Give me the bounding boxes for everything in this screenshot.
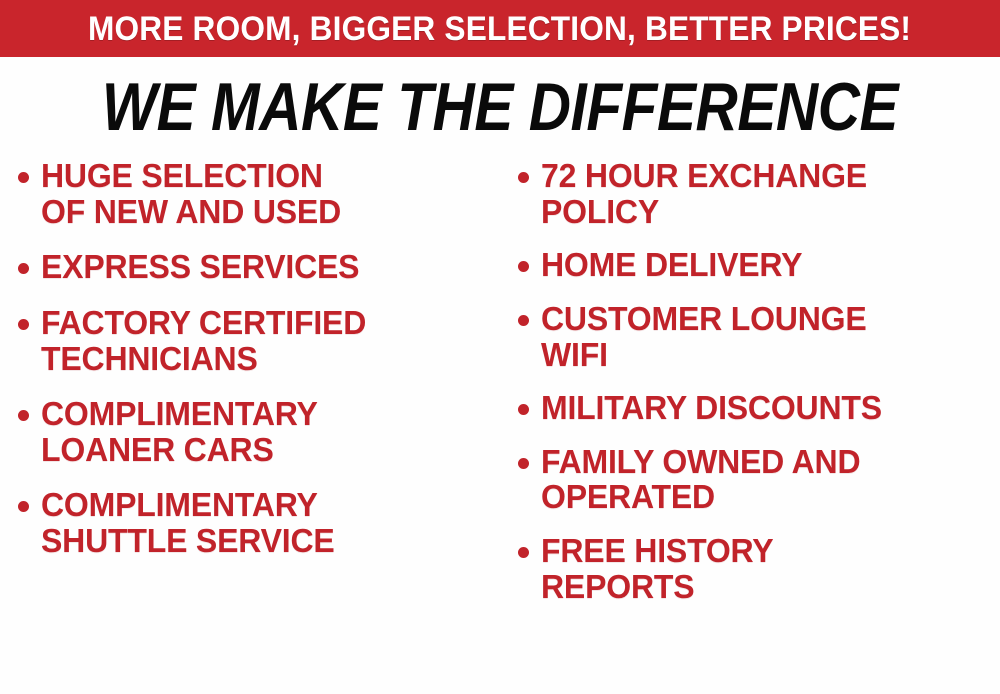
banner-headline-text: MORE ROOM, BIGGER SELECTION, BETTER PRIC… [88, 12, 911, 46]
bullet-dot-icon [518, 458, 529, 469]
bullet-dot-icon [18, 410, 29, 421]
feature-columns: HUGE SELECTION OF NEW AND USED EXPRESS S… [0, 158, 1000, 694]
top-banner: MORE ROOM, BIGGER SELECTION, BETTER PRIC… [0, 0, 1000, 57]
bullet-dot-icon [518, 547, 529, 558]
bullet-dot-icon [18, 263, 29, 274]
feature-item: MILITARY DISCOUNTS [518, 390, 1000, 426]
promotional-poster: MORE ROOM, BIGGER SELECTION, BETTER PRIC… [0, 0, 1000, 694]
bullet-dot-icon [518, 404, 529, 415]
feature-label: FACTORY CERTIFIED TECHNICIANS [41, 305, 366, 376]
feature-label: FAMILY OWNED AND OPERATED [541, 444, 860, 515]
bullet-dot-icon [18, 501, 29, 512]
feature-label: 72 HOUR EXCHANGE POLICY [541, 158, 867, 229]
feature-item: 72 HOUR EXCHANGE POLICY [518, 158, 1000, 229]
headline-container: WE MAKE THE DIFFERENCE [0, 66, 1000, 148]
feature-item: FREE HISTORY REPORTS [518, 533, 1000, 604]
bullet-dot-icon [518, 261, 529, 272]
feature-label: HOME DELIVERY [541, 247, 802, 283]
feature-item: FAMILY OWNED AND OPERATED [518, 444, 1000, 515]
feature-item: HOME DELIVERY [518, 247, 1000, 283]
feature-label: MILITARY DISCOUNTS [541, 390, 882, 426]
feature-label: EXPRESS SERVICES [41, 249, 359, 285]
feature-label: FREE HISTORY REPORTS [541, 533, 773, 604]
bullet-dot-icon [18, 319, 29, 330]
feature-column-left: HUGE SELECTION OF NEW AND USED EXPRESS S… [18, 158, 500, 579]
feature-item: HUGE SELECTION OF NEW AND USED [18, 158, 500, 229]
feature-label: COMPLIMENTARY SHUTTLE SERVICE [41, 487, 335, 558]
feature-item: COMPLIMENTARY SHUTTLE SERVICE [18, 487, 500, 558]
feature-label: COMPLIMENTARY LOANER CARS [41, 396, 318, 467]
feature-item: COMPLIMENTARY LOANER CARS [18, 396, 500, 467]
bullet-dot-icon [18, 172, 29, 183]
main-headline: WE MAKE THE DIFFERENCE [102, 73, 898, 141]
feature-label: CUSTOMER LOUNGE WIFI [541, 301, 867, 372]
feature-column-right: 72 HOUR EXCHANGE POLICY HOME DELIVERY CU… [518, 158, 1000, 622]
bullet-dot-icon [518, 315, 529, 326]
feature-item: FACTORY CERTIFIED TECHNICIANS [18, 305, 500, 376]
feature-item: CUSTOMER LOUNGE WIFI [518, 301, 1000, 372]
feature-label: HUGE SELECTION OF NEW AND USED [41, 158, 341, 229]
feature-item: EXPRESS SERVICES [18, 249, 500, 285]
bullet-dot-icon [518, 172, 529, 183]
